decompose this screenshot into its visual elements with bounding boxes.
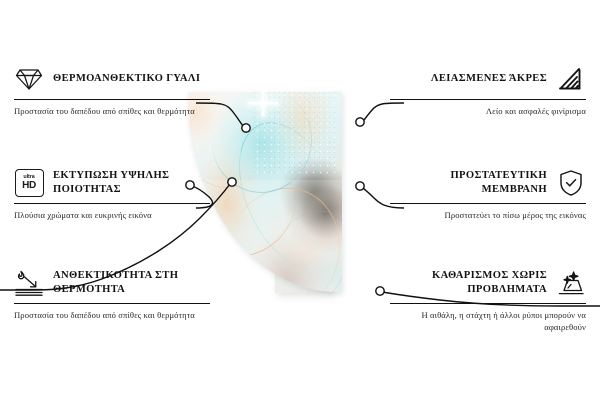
feature-divider — [390, 303, 586, 304]
feature-polished-edges: ΛΕΙΑΣΜΕΝΕΣ ΆΚΡΕΣ Λείο και ασφαλές φινίρι… — [390, 62, 586, 117]
ultra-hd-icon: ultra HD — [14, 168, 44, 198]
feature-title: ΛΕΙΑΣΜΕΝΕΣ ΆΚΡΕΣ — [431, 72, 547, 86]
feature-title: ΑΝΘΕΚΤΙΚΟΤΗΤΑ ΣΤΗ ΘΕΡΜΟΤΗΤΑ — [53, 269, 210, 297]
feature-divider — [14, 99, 210, 100]
diamond-icon — [14, 64, 44, 94]
polished-edge-icon — [556, 64, 586, 94]
feature-divider — [390, 203, 586, 204]
feature-divider — [14, 203, 210, 204]
feature-description: Προστατεύει το πίσω μέρος της εικόνας — [390, 209, 586, 221]
flame-deflect-icon — [14, 268, 44, 298]
feature-divider — [390, 99, 586, 100]
feature-description: Λείο και ασφαλές φινίρισμα — [390, 105, 586, 117]
feature-divider — [14, 303, 210, 304]
feature-high-quality-print: ultra HD ΕΚΤΥΠΩΣΗ ΥΨΗΛΗΣ ΠΟΙΟΤΗΤΑΣ Πλούσ… — [14, 166, 210, 221]
sparkle-clean-icon — [556, 268, 586, 298]
shield-check-icon — [556, 168, 586, 198]
feature-heat-resistance: ΑΝΘΕΚΤΙΚΟΤΗΤΑ ΣΤΗ ΘΕΡΜΟΤΗΤΑ Προστασία το… — [14, 266, 210, 321]
feature-heat-resistant-glass: ΘΕΡΜΟΑΝΘΕΚΤΙΚΟ ΓΥΑΛΙ Προστασία του δαπέδ… — [14, 62, 210, 117]
marble-artwork — [188, 92, 342, 292]
feature-easy-cleaning: ΚΑΘΑΡΙΣΜΟΣ ΧΩΡΙΣ ΠΡΟΒΛΗΜΑΤΑ Η αιθάλη, η … — [390, 266, 586, 334]
feature-title: ΚΑΘΑΡΙΣΜΟΣ ΧΩΡΙΣ ΠΡΟΒΛΗΜΑΤΑ — [390, 269, 547, 297]
glass-plate — [188, 92, 342, 292]
feature-protective-membrane: ΠΡΟΣΤΑΤΕΥΤΙΚΗ ΜΕΜΒΡΑΝΗ Προστατεύει το πί… — [390, 166, 586, 221]
feature-title: ΠΡΟΣΤΑΤΕΥΤΙΚΗ ΜΕΜΒΡΑΝΗ — [390, 169, 547, 197]
infographic-canvas: ΘΕΡΜΟΑΝΘΕΚΤΙΚΟ ΓΥΑΛΙ Προστασία του δαπέδ… — [0, 0, 600, 400]
feature-title: ΘΕΡΜΟΑΝΘΕΚΤΙΚΟ ΓΥΑΛΙ — [53, 72, 200, 86]
feature-description: Η αιθάλη, η στάχτη ή άλλοι ρύποι μπορούν… — [390, 309, 586, 334]
feature-description: Προστασία του δαπέδου από σπίθες και θερ… — [14, 309, 210, 321]
ultra-hd-big-label: HD — [22, 181, 36, 191]
feature-description: Πλούσια χρώματα και ευκρινής εικόνα — [14, 209, 210, 221]
feature-title: ΕΚΤΥΠΩΣΗ ΥΨΗΛΗΣ ΠΟΙΟΤΗΤΑΣ — [53, 169, 210, 197]
feature-description: Προστασία του δαπέδου από σπίθες και θερ… — [14, 105, 210, 117]
